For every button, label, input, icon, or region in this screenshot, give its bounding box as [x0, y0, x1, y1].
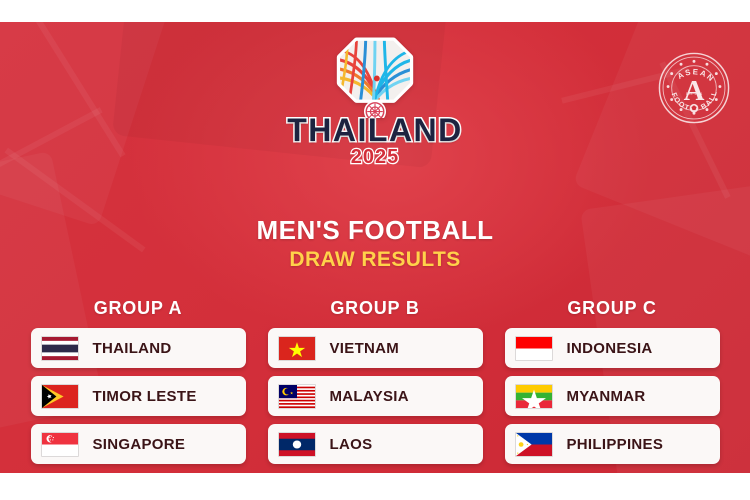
team-card[interactable]: SINGAPORE	[31, 424, 246, 464]
team-card[interactable]: THAILAND	[31, 328, 246, 368]
team-name: MALAYSIA	[330, 388, 409, 405]
group-title: GROUP A	[31, 298, 246, 319]
team-name: VIETNAM	[330, 340, 400, 357]
team-card[interactable]: LAOS	[268, 424, 483, 464]
group-column: GROUP A THAILAND TIMOR LESTE SINGAPORE	[31, 298, 246, 472]
title-block: MEN'S FOOTBALL DRAW RESULTS	[0, 215, 750, 272]
svg-text:EST. 1984: EST. 1984	[686, 92, 703, 96]
team-name: THAILAND	[93, 340, 172, 357]
group-column: GROUP B VIETNAM MALAYSIA LAOS	[268, 298, 483, 472]
wordmark-year: 2025	[287, 147, 463, 167]
group-title: GROUP B	[268, 298, 483, 319]
team-card[interactable]: INDONESIA	[505, 328, 720, 368]
wordmark-thailand: THAILAND	[287, 114, 463, 146]
poster-canvas: THAILAND 2025 ASEAN A EST. 1984	[0, 0, 750, 500]
page-title: MEN'S FOOTBALL	[0, 215, 750, 246]
team-name: TIMOR LESTE	[93, 388, 197, 405]
team-card[interactable]: MYANMAR	[505, 376, 720, 416]
team-name: SINGAPORE	[93, 436, 186, 453]
group-columns: GROUP A THAILAND TIMOR LESTE SINGAPOREGR…	[0, 298, 750, 472]
asean-football-badge-icon: ASEAN A EST. 1984 FOOT BALL	[658, 52, 730, 124]
team-card[interactable]: VIETNAM	[268, 328, 483, 368]
team-name: LAOS	[330, 436, 373, 453]
thailand-2025-games-emblem-icon	[329, 26, 421, 118]
team-name: INDONESIA	[567, 340, 653, 357]
team-name: MYANMAR	[567, 388, 646, 405]
group-column: GROUP C INDONESIA MYANMAR PHILIPPINES	[505, 298, 720, 472]
team-card[interactable]: PHILIPPINES	[505, 424, 720, 464]
wordmark: THAILAND 2025	[287, 114, 463, 167]
page-subtitle: DRAW RESULTS	[0, 248, 750, 272]
team-name: PHILIPPINES	[567, 436, 664, 453]
team-card[interactable]: TIMOR LESTE	[31, 376, 246, 416]
red-background-panel: THAILAND 2025 ASEAN A EST. 1984	[0, 22, 750, 473]
group-title: GROUP C	[505, 298, 720, 319]
event-logo: THAILAND 2025	[0, 26, 750, 167]
team-card[interactable]: MALAYSIA	[268, 376, 483, 416]
